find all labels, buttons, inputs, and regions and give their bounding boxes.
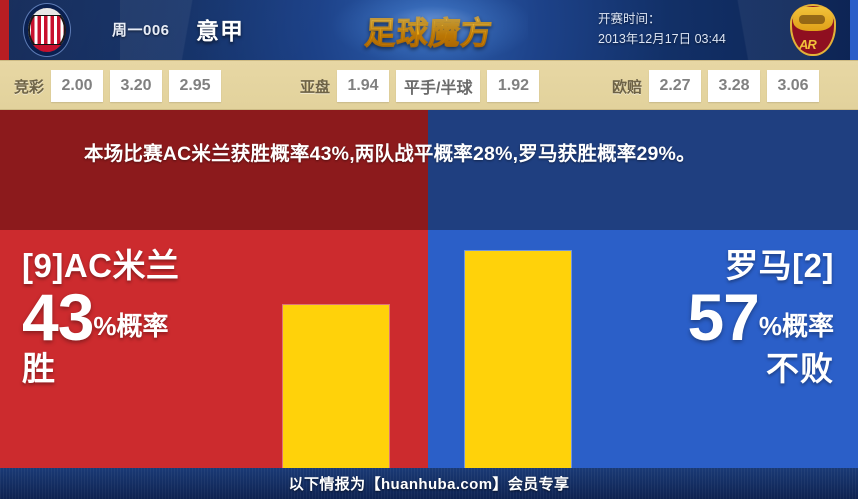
site-logo[interactable]: 足球魔方 (340, 10, 518, 50)
odds-cell-away[interactable]: 1.92 (487, 70, 539, 102)
as-roma-crest-icon: AR (790, 4, 836, 56)
away-team-block: 罗马[2] 57 %概率 不败 (687, 246, 834, 390)
away-probability-unit: %概率 (759, 309, 834, 348)
odds-cell-home[interactable]: 2.00 (51, 70, 103, 102)
away-probability-bar (465, 251, 571, 468)
footer-text: 以下情报为【huanhuba.com】会员专享 (289, 473, 570, 494)
match-round-label: 周一006 (112, 19, 170, 40)
odds-cell-home[interactable]: 2.27 (649, 70, 701, 102)
summary-band: 本场比赛AC米兰获胜概率43%,两队战平概率28%,罗马获胜概率29%。 (0, 110, 858, 230)
odds-group-label: 亚盘 (300, 76, 330, 97)
probability-chart-area: [9]AC米兰 43 %概率 胜 罗马[2] 57 %概率 不败 (0, 230, 858, 468)
summary-text: 本场比赛AC米兰获胜概率43%,两队战平概率28%,罗马获胜概率29%。 (84, 138, 776, 171)
odds-cell-handicap[interactable]: 平手/半球 (396, 70, 480, 102)
odds-cell-away[interactable]: 2.95 (169, 70, 221, 102)
header-bar: 周一006 意甲 足球魔方 开赛时间： 2013年12月17日 03:44 AR (0, 0, 858, 60)
header-right-accent-stripe (850, 0, 858, 60)
roma-crest-initials: AR (799, 37, 816, 52)
away-probability-value: 57 (687, 286, 758, 348)
home-probability-row: 43 %概率 (22, 286, 180, 348)
kickoff-time-label: 开赛时间： (598, 9, 726, 29)
kickoff-time-value: 2013年12月17日 03:44 (598, 29, 726, 49)
logo-text: 足球魔方 (363, 8, 494, 53)
home-outcome-label: 胜 (22, 348, 180, 390)
match-probability-infographic: 周一006 意甲 足球魔方 开赛时间： 2013年12月17日 03:44 AR… (0, 0, 858, 499)
home-probability-unit: %概率 (93, 309, 168, 348)
odds-group-label: 竞彩 (14, 76, 44, 97)
home-probability-bar (283, 305, 389, 468)
home-probability-value: 43 (22, 286, 93, 348)
footer-bar: 以下情报为【huanhuba.com】会员专享 (0, 468, 858, 499)
odds-cell-home[interactable]: 1.94 (337, 70, 389, 102)
header-left-accent-stripe (0, 0, 9, 60)
odds-cell-draw[interactable]: 3.28 (708, 70, 760, 102)
away-outcome-label: 不败 (687, 348, 834, 390)
odds-cell-away[interactable]: 3.06 (767, 70, 819, 102)
odds-group-european: 欧赔 2.27 3.28 3.06 (612, 61, 819, 111)
odds-group-asian-handicap: 亚盘 1.94 平手/半球 1.92 (300, 61, 539, 111)
odds-group-jingcai: 竞彩 2.00 3.20 2.95 (14, 61, 221, 111)
odds-group-label: 欧赔 (612, 76, 642, 97)
odds-bar: 竞彩 2.00 3.20 2.95 亚盘 1.94 平手/半球 1.92 欧赔 … (0, 60, 858, 110)
league-name-label: 意甲 (196, 12, 244, 46)
home-team-block: [9]AC米兰 43 %概率 胜 (22, 246, 180, 390)
kickoff-time-block: 开赛时间： 2013年12月17日 03:44 (598, 9, 726, 49)
odds-cell-draw[interactable]: 3.20 (110, 70, 162, 102)
away-probability-row: 57 %概率 (687, 286, 834, 348)
ac-milan-crest-icon (24, 4, 70, 56)
